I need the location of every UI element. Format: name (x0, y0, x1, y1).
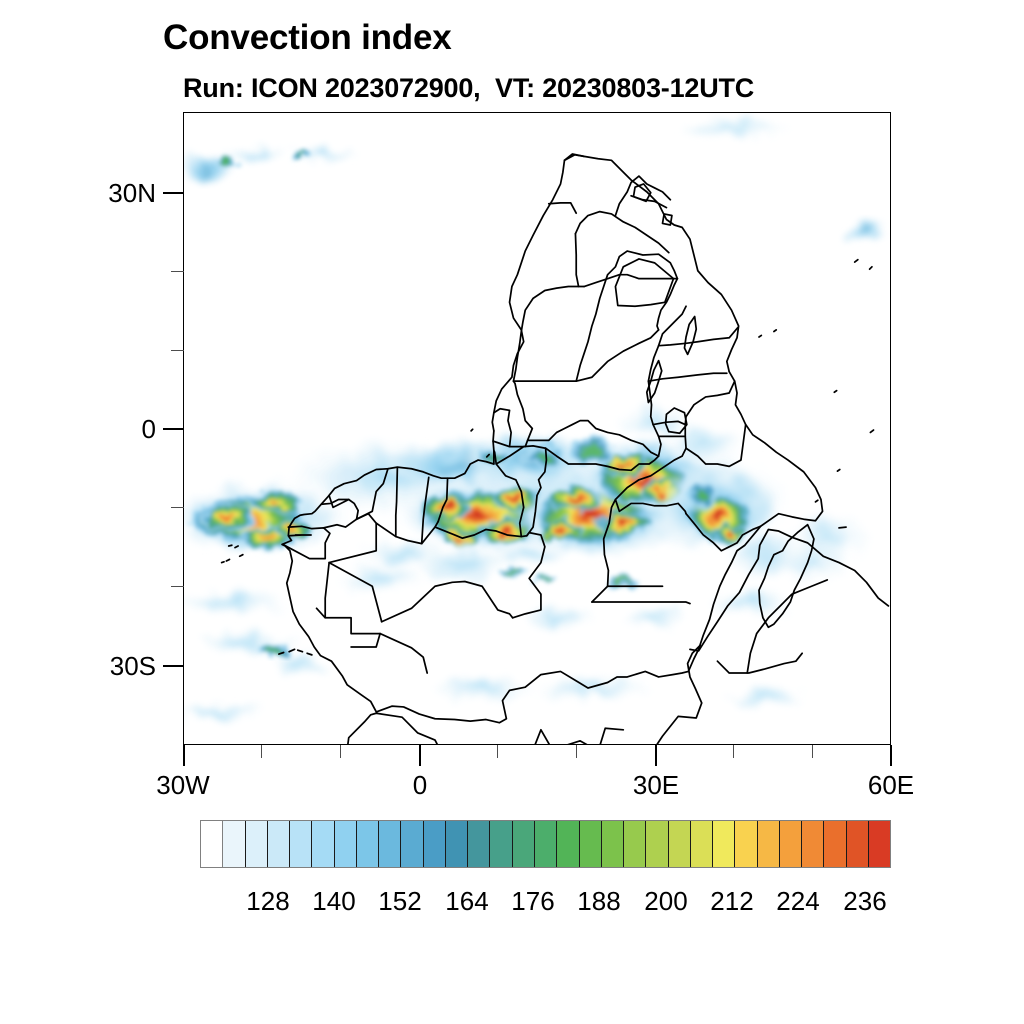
xtick-20w (261, 745, 262, 758)
colorbar-cell (580, 821, 602, 867)
ytick-30n (163, 192, 184, 194)
xtick-40e (733, 745, 734, 758)
ytick-10n (171, 350, 184, 351)
colorbar-cell (401, 821, 423, 867)
ytick-30s (163, 665, 184, 667)
xtick-60e (890, 745, 892, 766)
colorbar-cell (424, 821, 446, 867)
xtick-10w (340, 745, 341, 758)
colorbar-cell (246, 821, 268, 867)
colorbar-cell (446, 821, 468, 867)
colorbar-cell (312, 821, 334, 867)
xtick-30e (655, 745, 657, 766)
xlabel-30e: 30E (596, 770, 716, 801)
figure-root: Convection index Run: ICON 2023072900, V… (0, 0, 1024, 1024)
xtick-30w (183, 745, 185, 766)
map-plot-area (183, 112, 891, 745)
colorbar-cell (201, 821, 223, 867)
colorbar-cell (669, 821, 691, 867)
ytick-10s (171, 507, 184, 508)
colorbar-cell (335, 821, 357, 867)
colorbar-cell (290, 821, 312, 867)
xtick-10e (497, 745, 498, 758)
ylabel-0: 0 (36, 414, 156, 445)
colorbar-cell (847, 821, 869, 867)
colorbar (200, 820, 891, 868)
colorbar-cell (490, 821, 512, 867)
colorbar-cell (735, 821, 757, 867)
convection-field (184, 117, 887, 724)
xtick-0 (419, 745, 421, 766)
colorbar-cell (268, 821, 290, 867)
map-canvas (184, 113, 890, 744)
ytick-20s (171, 586, 184, 587)
colorbar-cell (780, 821, 802, 867)
xtick-50e (812, 745, 813, 758)
colorbar-cell (513, 821, 535, 867)
colorbar-cell (802, 821, 824, 867)
figure-subtitle: Run: ICON 2023072900, VT: 20230803-12UTC (183, 73, 754, 104)
colorbar-cell (223, 821, 245, 867)
colorbar-cell (379, 821, 401, 867)
colorbar-cell (602, 821, 624, 867)
colorbar-cell (646, 821, 668, 867)
figure-title: Convection index (163, 18, 452, 58)
ylabel-30n: 30N (36, 178, 156, 209)
colorbar-cell (535, 821, 557, 867)
ytick-20n (171, 271, 184, 272)
colorbar-cell (869, 821, 890, 867)
xlabel-0: 0 (360, 770, 480, 801)
colorbar-cell (824, 821, 846, 867)
xlabel-30w: 30W (123, 770, 243, 801)
colorbar-cell (758, 821, 780, 867)
ytick-0 (163, 428, 184, 430)
colorbar-cell (357, 821, 379, 867)
ylabel-30s: 30S (36, 651, 156, 682)
colorbar-cell (557, 821, 579, 867)
xtick-20e (576, 745, 577, 758)
xlabel-60e: 60E (831, 770, 951, 801)
colorbar-cell (691, 821, 713, 867)
colorbar-cell (713, 821, 735, 867)
colorbar-cell (468, 821, 490, 867)
colorbar-tick-236: 236 (825, 886, 905, 917)
colorbar-cell (624, 821, 646, 867)
